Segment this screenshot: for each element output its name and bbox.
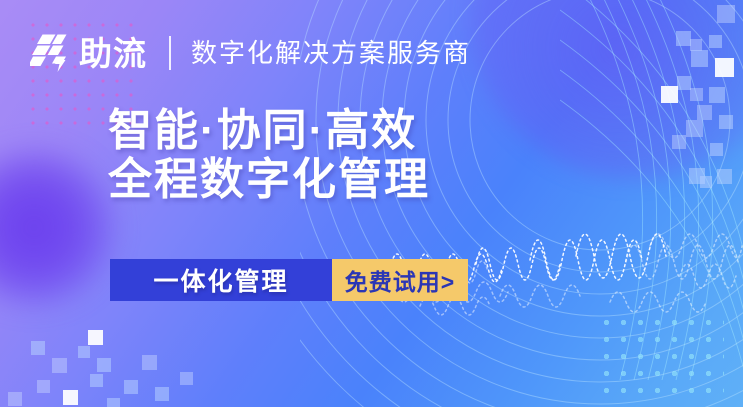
brand-row: 助流 数字化解决方案服务商: [30, 29, 471, 77]
headline-line-1: 智能·协同·高效: [108, 106, 430, 155]
promo-banner: 助流 数字化解决方案服务商 智能·协同·高效 全程数字化管理 一体化管理 免费试…: [0, 0, 743, 407]
integrated-management-button[interactable]: 一体化管理: [110, 259, 332, 301]
banner-content: 助流 数字化解决方案服务商 智能·协同·高效 全程数字化管理 一体化管理 免费试…: [0, 0, 743, 407]
lightning-bolt-logo-icon: [30, 32, 72, 74]
brand-divider: [169, 36, 171, 70]
free-trial-button[interactable]: 免费试用>: [332, 259, 468, 301]
brand-name: 助流: [79, 37, 147, 70]
cta-row: 一体化管理 免费试用>: [110, 259, 468, 301]
brand-tagline: 数字化解决方案服务商: [191, 40, 471, 66]
page-title: 智能·协同·高效 全程数字化管理: [108, 106, 430, 204]
headline-line-2: 全程数字化管理: [108, 155, 430, 204]
